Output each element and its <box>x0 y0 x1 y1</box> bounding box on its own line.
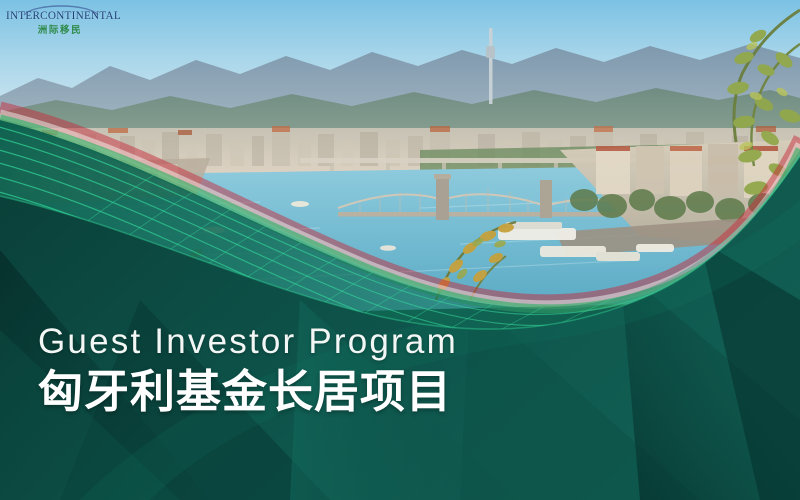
headline-english: Guest Investor Program <box>38 322 458 362</box>
logo-chinese-name: 洲际移民 <box>6 22 114 36</box>
company-logo[interactable]: INTERCONTINENTAL 洲际移民 <box>6 2 114 36</box>
green-wave-overlay <box>0 0 800 500</box>
headline-block: Guest Investor Program 匈牙利基金长居项目 <box>38 322 458 418</box>
promotional-banner: INTERCONTINENTAL 洲际移民 Guest Investor Pro… <box>0 0 800 500</box>
headline-chinese: 匈牙利基金长居项目 <box>38 366 458 418</box>
logo-wordmark: INTERCONTINENTAL <box>6 10 114 22</box>
